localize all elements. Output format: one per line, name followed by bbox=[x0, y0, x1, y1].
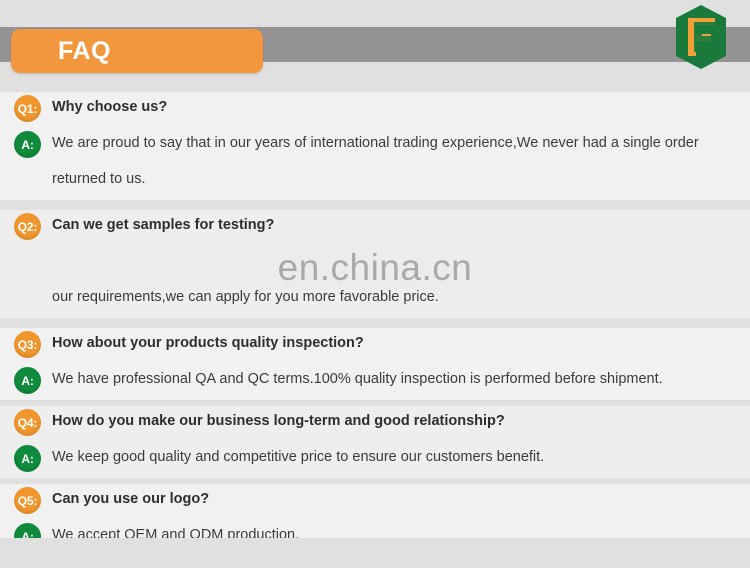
question-badge: Q5: bbox=[14, 487, 41, 514]
row-separator bbox=[0, 318, 750, 328]
faq-question-row: Q4: How do you make our business long-te… bbox=[0, 406, 750, 442]
faq-question-row: Q5: Can you use our logo? bbox=[0, 484, 750, 520]
footer-band bbox=[0, 538, 750, 568]
faq-question-text: Can we get samples for testing? bbox=[52, 210, 274, 240]
faq-answer-text: We are proud to say that in our years of… bbox=[52, 128, 699, 158]
faq-answer-row: A: We keep good quality and competitive … bbox=[0, 442, 750, 478]
question-badge: Q4: bbox=[14, 409, 41, 436]
faq-answer-row: A: We are proud to say that in our years… bbox=[0, 128, 750, 164]
faq-item-3: Q3: How about your products quality insp… bbox=[0, 328, 750, 400]
answer-badge: A: bbox=[14, 445, 41, 472]
faq-answer-row: A: We have professional QA and QC terms.… bbox=[0, 364, 750, 400]
question-badge: Q3: bbox=[14, 331, 41, 358]
faq-question-row: Q1: Why choose us? bbox=[0, 92, 750, 128]
faq-list: Q1: Why choose us? A: We are proud to sa… bbox=[0, 92, 750, 568]
faq-question-row: Q2: Can we get samples for testing? bbox=[0, 210, 750, 246]
row-separator bbox=[0, 200, 750, 210]
faq-question-text: Can you use our logo? bbox=[52, 484, 209, 514]
faq-question-row: Q3: How about your products quality insp… bbox=[0, 328, 750, 364]
faq-page: FAQ Q1: Why choose us? A: We are proud t… bbox=[0, 0, 750, 568]
faq-answer-text-line2: returned to us. bbox=[52, 164, 146, 194]
faq-question-text: How do you make our business long-term a… bbox=[52, 406, 505, 436]
page-header: FAQ bbox=[0, 0, 750, 92]
faq-item-4: Q4: How do you make our business long-te… bbox=[0, 406, 750, 478]
faq-answer-text: We keep good quality and competitive pri… bbox=[52, 442, 544, 472]
faq-answer-text: We have professional QA and QC terms.100… bbox=[52, 364, 663, 394]
question-badge: Q1: bbox=[14, 95, 41, 122]
faq-question-text: Why choose us? bbox=[52, 92, 167, 122]
faq-item-1: Q1: Why choose us? A: We are proud to sa… bbox=[0, 92, 750, 200]
answer-badge: A: bbox=[14, 131, 41, 158]
watermark-backdrop bbox=[0, 246, 750, 290]
question-badge: Q2: bbox=[14, 213, 41, 240]
faq-banner: FAQ bbox=[11, 29, 263, 73]
answer-badge: A: bbox=[14, 367, 41, 394]
faq-answer-continuation: returned to us. bbox=[0, 164, 750, 200]
company-hexagon-logo bbox=[674, 4, 728, 70]
page-title: FAQ bbox=[58, 38, 111, 64]
faq-question-text: How about your products quality inspecti… bbox=[52, 328, 364, 358]
